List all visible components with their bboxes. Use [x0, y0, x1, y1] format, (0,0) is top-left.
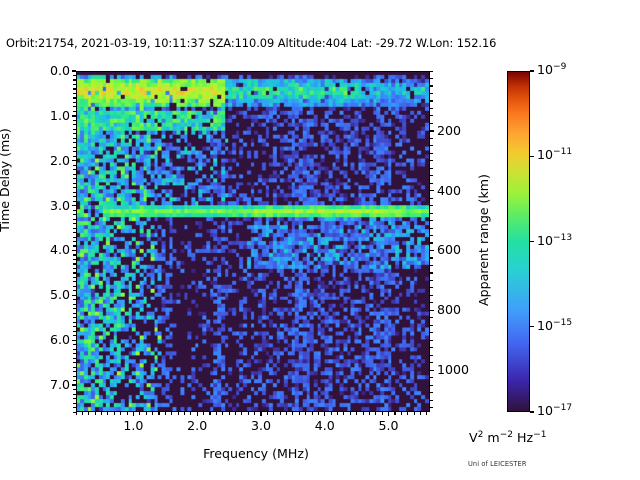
x-minor-tick	[209, 412, 210, 415]
figure-canvas: Orbit:21754, 2021-03-19, 10:11:37 SZA:11…	[0, 0, 640, 480]
right-minor-tick	[430, 168, 433, 169]
x-minor-tick	[350, 412, 351, 415]
x-minor-tick	[190, 412, 191, 415]
y-minor-tick	[73, 259, 76, 260]
y-minor-tick	[73, 272, 76, 273]
y-minor-tick	[73, 290, 76, 291]
x-minor-tick	[299, 412, 300, 415]
x-minor-tick	[82, 412, 83, 415]
x-tick-label: 4.0	[305, 418, 345, 433]
x-minor-tick	[331, 412, 332, 415]
y-minor-tick	[73, 313, 76, 314]
right-minor-tick	[430, 295, 433, 296]
y-minor-tick	[73, 75, 76, 76]
x-minor-tick	[394, 412, 395, 415]
y-minor-tick	[73, 228, 76, 229]
y-minor-tick	[73, 97, 76, 98]
y-minor-tick	[73, 120, 76, 121]
y-minor-tick	[73, 79, 76, 80]
x-minor-tick	[407, 412, 408, 415]
colorbar-tick	[530, 241, 534, 242]
x-minor-tick	[267, 412, 268, 415]
right-minor-tick	[430, 280, 433, 281]
x-minor-tick	[114, 412, 115, 415]
right-minor-tick	[430, 71, 433, 72]
x-minor-tick	[158, 412, 159, 415]
colorbar-tick	[530, 70, 534, 71]
colorbar-tick-label: 10−17	[537, 403, 572, 418]
y-tick-label: 0.0	[26, 63, 70, 78]
colorbar-tick-label: 10−9	[537, 62, 566, 77]
y-minor-tick	[73, 277, 76, 278]
x-minor-tick	[222, 412, 223, 415]
x-axis-label: Frequency (MHz)	[0, 446, 512, 461]
x-minor-tick	[127, 412, 128, 415]
x-minor-tick	[375, 412, 376, 415]
x-minor-tick	[280, 412, 281, 415]
right-minor-tick	[430, 235, 433, 236]
y-minor-tick	[73, 138, 76, 139]
right-minor-tick	[430, 213, 433, 214]
y-minor-tick	[73, 183, 76, 184]
right-y-axis-label: Apparent range (km)	[476, 174, 491, 306]
x-minor-tick	[356, 412, 357, 415]
colorbar	[507, 71, 530, 412]
x-minor-tick	[337, 412, 338, 415]
x-major-tick	[197, 412, 198, 416]
y-minor-tick	[73, 192, 76, 193]
right-major-tick	[430, 130, 434, 131]
right-minor-tick	[430, 362, 433, 363]
right-minor-tick	[430, 160, 433, 161]
right-minor-tick	[430, 85, 433, 86]
y-minor-tick	[73, 223, 76, 224]
x-minor-tick	[312, 412, 313, 415]
x-minor-tick	[363, 412, 364, 415]
x-minor-tick	[152, 412, 153, 415]
x-minor-tick	[178, 412, 179, 415]
right-major-tick	[430, 190, 434, 191]
right-minor-tick	[430, 145, 433, 146]
y-minor-tick	[73, 322, 76, 323]
right-minor-tick	[430, 400, 433, 401]
colorbar-tick	[530, 156, 534, 157]
y-minor-tick	[73, 151, 76, 152]
y-minor-tick	[73, 362, 76, 363]
y-minor-tick	[73, 174, 76, 175]
y-minor-tick	[73, 210, 76, 211]
plot-title: Orbit:21754, 2021-03-19, 10:11:37 SZA:11…	[6, 36, 476, 50]
colorbar-tick-label: 10−15	[537, 318, 572, 333]
right-minor-tick	[430, 302, 433, 303]
y-minor-tick	[73, 241, 76, 242]
right-minor-tick	[430, 347, 433, 348]
x-minor-tick	[286, 412, 287, 415]
y-minor-tick	[73, 389, 76, 390]
y-major-tick	[72, 340, 76, 341]
y-minor-tick	[73, 254, 76, 255]
right-minor-tick	[430, 385, 433, 386]
x-minor-tick	[203, 412, 204, 415]
right-tick-label: 600	[437, 242, 461, 257]
y-minor-tick	[73, 106, 76, 107]
x-minor-tick	[241, 412, 242, 415]
y-minor-tick	[73, 335, 76, 336]
y-minor-tick	[73, 349, 76, 350]
x-minor-tick	[235, 412, 236, 415]
colorbar-tick	[530, 411, 534, 412]
right-minor-tick	[430, 153, 433, 154]
y-minor-tick	[73, 214, 76, 215]
x-major-tick	[324, 412, 325, 416]
y-minor-tick	[73, 286, 76, 287]
y-major-tick	[72, 160, 76, 161]
x-minor-tick	[369, 412, 370, 415]
right-minor-tick	[430, 392, 433, 393]
right-minor-tick	[430, 138, 433, 139]
right-minor-tick	[430, 317, 433, 318]
right-minor-tick	[430, 123, 433, 124]
x-minor-tick	[139, 412, 140, 415]
y-minor-tick	[73, 129, 76, 130]
right-minor-tick	[430, 287, 433, 288]
y-minor-tick	[73, 88, 76, 89]
right-minor-tick	[430, 355, 433, 356]
right-minor-tick	[430, 332, 433, 333]
y-minor-tick	[73, 245, 76, 246]
y-minor-tick	[73, 407, 76, 408]
y-minor-tick	[73, 317, 76, 318]
x-minor-tick	[305, 412, 306, 415]
y-minor-tick	[73, 187, 76, 188]
y-major-tick	[72, 115, 76, 116]
y-tick-label: 7.0	[26, 377, 70, 392]
right-major-tick	[430, 310, 434, 311]
ionogram-heatmap-axes	[76, 71, 430, 412]
ionogram-heatmap	[77, 72, 429, 411]
y-tick-label: 6.0	[26, 332, 70, 347]
x-minor-tick	[248, 412, 249, 415]
x-minor-tick	[343, 412, 344, 415]
x-tick-label: 5.0	[369, 418, 409, 433]
y-minor-tick	[73, 308, 76, 309]
y-minor-tick	[73, 178, 76, 179]
y-major-tick	[72, 384, 76, 385]
right-minor-tick	[430, 108, 433, 109]
right-minor-tick	[430, 100, 433, 101]
x-tick-label: 1.0	[113, 418, 153, 433]
y-minor-tick	[73, 304, 76, 305]
right-minor-tick	[430, 242, 433, 243]
colorbar-unit-label: V2 m−2 Hz−1	[469, 430, 547, 445]
y-tick-label: 1.0	[26, 108, 70, 123]
y-minor-tick	[73, 331, 76, 332]
y-tick-label: 5.0	[26, 287, 70, 302]
y-tick-label: 2.0	[26, 153, 70, 168]
right-minor-tick	[430, 115, 433, 116]
y-minor-tick	[73, 219, 76, 220]
x-minor-tick	[171, 412, 172, 415]
right-minor-tick	[430, 175, 433, 176]
y-minor-tick	[73, 147, 76, 148]
y-minor-tick	[73, 268, 76, 269]
right-tick-label: 200	[437, 123, 461, 138]
y-major-tick	[72, 250, 76, 251]
right-minor-tick	[430, 265, 433, 266]
right-major-tick	[430, 370, 434, 371]
right-minor-tick	[430, 93, 433, 94]
y-minor-tick	[73, 124, 76, 125]
x-minor-tick	[420, 412, 421, 415]
x-minor-tick	[318, 412, 319, 415]
right-minor-tick	[430, 257, 433, 258]
right-minor-tick	[430, 220, 433, 221]
y-major-tick	[72, 70, 76, 71]
y-minor-tick	[73, 403, 76, 404]
x-minor-tick	[101, 412, 102, 415]
x-minor-tick	[107, 412, 108, 415]
y-minor-tick	[73, 196, 76, 197]
x-minor-tick	[229, 412, 230, 415]
x-minor-tick	[292, 412, 293, 415]
y-minor-tick	[73, 142, 76, 143]
y-minor-tick	[73, 237, 76, 238]
y-minor-tick	[73, 367, 76, 368]
y-minor-tick	[73, 263, 76, 264]
x-minor-tick	[273, 412, 274, 415]
right-minor-tick	[430, 407, 433, 408]
x-major-tick	[388, 412, 389, 416]
y-minor-tick	[73, 133, 76, 134]
credit-text: Uni of LEICESTER	[468, 460, 527, 468]
y-minor-tick	[73, 201, 76, 202]
x-minor-tick	[382, 412, 383, 415]
y-minor-tick	[73, 358, 76, 359]
y-minor-tick	[73, 299, 76, 300]
right-minor-tick	[430, 78, 433, 79]
colorbar-tick	[530, 326, 534, 327]
x-minor-tick	[184, 412, 185, 415]
right-minor-tick	[430, 183, 433, 184]
y-minor-tick	[73, 84, 76, 85]
y-minor-tick	[73, 165, 76, 166]
y-minor-tick	[73, 93, 76, 94]
y-minor-tick	[73, 380, 76, 381]
x-major-tick	[260, 412, 261, 416]
y-major-tick	[72, 205, 76, 206]
right-tick-label: 800	[437, 302, 461, 317]
right-tick-label: 400	[437, 183, 461, 198]
y-minor-tick	[73, 156, 76, 157]
x-tick-label: 3.0	[241, 418, 281, 433]
x-minor-tick	[120, 412, 121, 415]
y-axis-label: Time Delay (ms)	[0, 128, 12, 232]
right-major-tick	[430, 250, 434, 251]
x-minor-tick	[76, 412, 77, 415]
x-tick-label: 2.0	[177, 418, 217, 433]
y-minor-tick	[73, 398, 76, 399]
x-minor-tick	[414, 412, 415, 415]
x-major-tick	[133, 412, 134, 416]
right-minor-tick	[430, 340, 433, 341]
right-minor-tick	[430, 198, 433, 199]
y-minor-tick	[73, 376, 76, 377]
x-minor-tick	[216, 412, 217, 415]
y-major-tick	[72, 295, 76, 296]
colorbar-tick-label: 10−13	[537, 233, 572, 248]
x-minor-tick	[146, 412, 147, 415]
x-minor-tick	[165, 412, 166, 415]
right-minor-tick	[430, 325, 433, 326]
y-minor-tick	[73, 102, 76, 103]
y-minor-tick	[73, 371, 76, 372]
right-tick-label: 1000	[437, 362, 469, 377]
colorbar-tick-label: 10−11	[537, 147, 572, 162]
right-minor-tick	[430, 228, 433, 229]
y-minor-tick	[73, 344, 76, 345]
y-minor-tick	[73, 111, 76, 112]
x-minor-tick	[426, 412, 427, 415]
y-tick-label: 3.0	[26, 198, 70, 213]
x-minor-tick	[88, 412, 89, 415]
y-minor-tick	[73, 326, 76, 327]
y-minor-tick	[73, 169, 76, 170]
y-minor-tick	[73, 394, 76, 395]
y-minor-tick	[73, 281, 76, 282]
y-minor-tick	[73, 232, 76, 233]
y-minor-tick	[73, 353, 76, 354]
y-tick-label: 4.0	[26, 242, 70, 257]
right-minor-tick	[430, 205, 433, 206]
right-minor-tick	[430, 272, 433, 273]
x-minor-tick	[95, 412, 96, 415]
x-minor-tick	[254, 412, 255, 415]
right-minor-tick	[430, 377, 433, 378]
x-minor-tick	[401, 412, 402, 415]
